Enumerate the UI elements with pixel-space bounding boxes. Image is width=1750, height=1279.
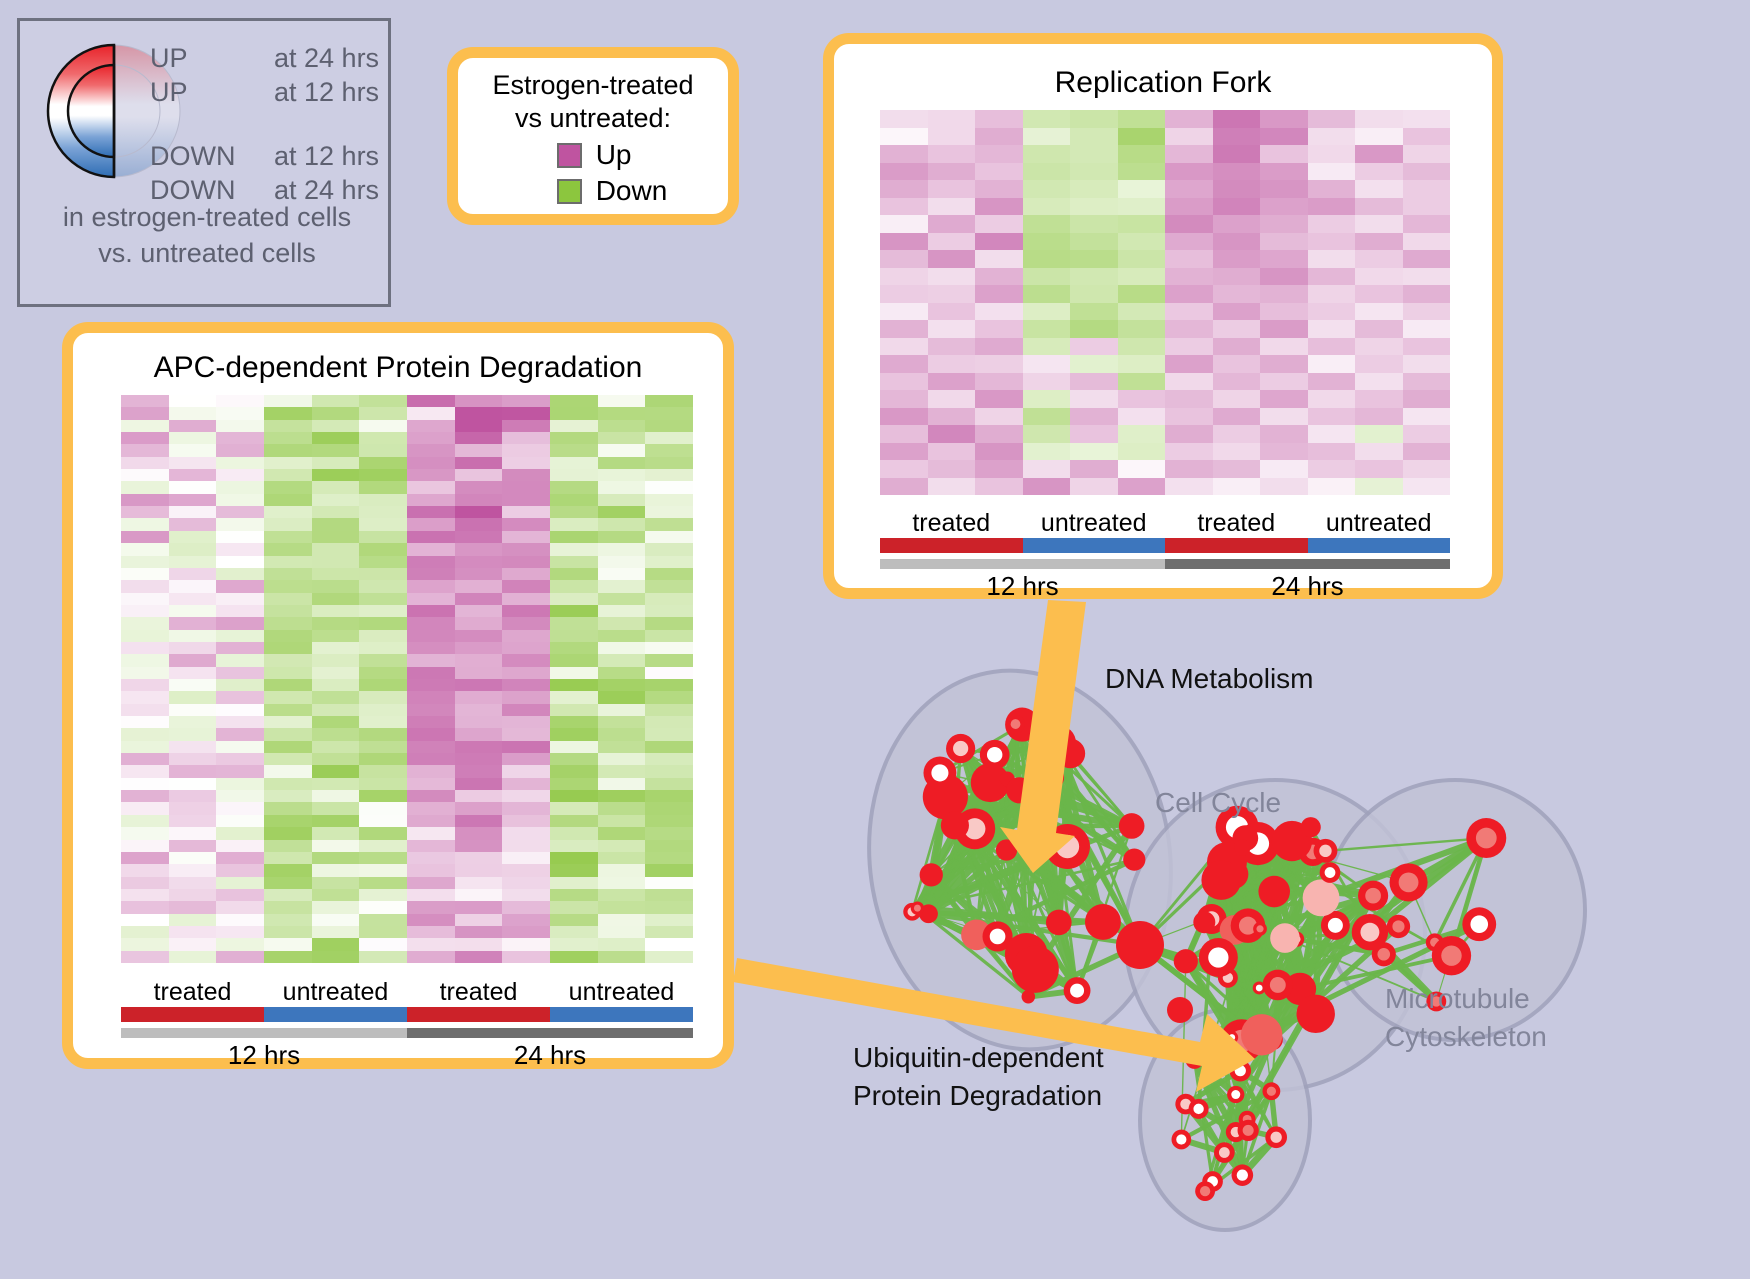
heatmap-cell — [312, 568, 360, 580]
heatmap-cell — [598, 667, 646, 679]
heatmap-cell — [550, 420, 598, 432]
heatmap-cell — [1118, 338, 1166, 356]
panel-title-replication-fork: Replication Fork — [834, 66, 1492, 100]
heatmap-cell — [312, 741, 360, 753]
heatmap-cell — [880, 443, 928, 461]
heatmap-cell — [264, 864, 312, 876]
heatmap-cell — [1213, 460, 1261, 478]
heatmap-cell — [1118, 285, 1166, 303]
heatmap-cell — [216, 691, 264, 703]
heatmap-cell — [502, 877, 550, 889]
heatmap-cell — [502, 827, 550, 839]
heatmap-cell — [455, 889, 503, 901]
heatmap-cell — [407, 914, 455, 926]
heatmap-cell — [407, 543, 455, 555]
heatmap-cell — [502, 704, 550, 716]
heatmap-cell — [216, 852, 264, 864]
heatmap-cell — [550, 926, 598, 938]
heatmap-cell — [264, 654, 312, 666]
heatmap-cell — [216, 802, 264, 814]
heatmap-cell — [1165, 180, 1213, 198]
heatmap-cell — [880, 233, 928, 251]
heatmap-cell — [975, 408, 1023, 426]
heatmap-cell — [598, 679, 646, 691]
heatmap-cell — [169, 531, 217, 543]
heatmap-cell — [407, 889, 455, 901]
heatmap-cell — [169, 395, 217, 407]
heatmap-cell — [1260, 338, 1308, 356]
heatmap-cell — [169, 432, 217, 444]
group-label-treated-24-rep: treated — [1165, 509, 1308, 538]
heatmap-cell — [169, 914, 217, 926]
heatmap-cell — [1355, 110, 1403, 128]
heatmap-cell — [312, 951, 360, 963]
heatmap-cell — [264, 494, 312, 506]
heatmap-cell — [502, 901, 550, 913]
heatmap-cell — [121, 605, 169, 617]
heatmap-cell — [645, 852, 693, 864]
heatmap-cell — [359, 469, 407, 481]
heatmap-cell — [1260, 215, 1308, 233]
heatmap-cell — [1403, 163, 1451, 181]
heatmap-cell — [407, 926, 455, 938]
heatmap-cell — [455, 877, 503, 889]
heatmap-cell — [975, 180, 1023, 198]
heatmap-cell — [1260, 128, 1308, 146]
heatmap-cell — [216, 457, 264, 469]
heatmap-cell — [598, 432, 646, 444]
heatmap-cell — [169, 593, 217, 605]
heatmap-cell — [598, 914, 646, 926]
heatmap-cell — [121, 630, 169, 642]
heatmap-cell — [502, 938, 550, 950]
heatmap-cell — [121, 580, 169, 592]
heatmap-cell — [121, 741, 169, 753]
heatmap-cell — [1355, 163, 1403, 181]
heatmap-cell — [1308, 390, 1356, 408]
heatmap-cell — [407, 840, 455, 852]
legend-title: Estrogen-treated vs untreated: — [492, 69, 693, 135]
heatmap-cell — [1213, 408, 1261, 426]
bar-24hrs-rep — [1165, 559, 1450, 569]
heatmap-cell — [264, 951, 312, 963]
heatmap-cell — [359, 716, 407, 728]
heatmap-cell — [645, 568, 693, 580]
bar-treated-12-apc — [121, 1007, 264, 1022]
heatmap-cell — [1260, 233, 1308, 251]
heatmap-cell — [359, 827, 407, 839]
heatmap-cell — [359, 432, 407, 444]
heatmap-cell — [880, 163, 928, 181]
heatmap-cell — [121, 877, 169, 889]
heatmap-cell — [1070, 110, 1118, 128]
heatmap-cell — [645, 642, 693, 654]
heatmap-cell — [1403, 390, 1451, 408]
heatmap-cell — [264, 840, 312, 852]
heatmap-cell — [1118, 478, 1166, 496]
heatmap-cell — [121, 716, 169, 728]
heatmap-cell — [216, 568, 264, 580]
heatmap-cell — [598, 481, 646, 493]
heatmap-cell — [550, 531, 598, 543]
heatmap-cell — [359, 444, 407, 456]
heatmap-cell — [407, 420, 455, 432]
heatmap-cell — [407, 506, 455, 518]
heatmap-cell — [1213, 233, 1261, 251]
heatmap-cell — [928, 408, 976, 426]
group-label-untreated-24-rep: untreated — [1308, 509, 1451, 538]
heatmap-cell — [502, 926, 550, 938]
heatmap-cell — [1070, 233, 1118, 251]
heatmap-cell — [359, 457, 407, 469]
heatmap-cell — [1403, 355, 1451, 373]
heatmap-cell — [550, 593, 598, 605]
heatmap-cell — [169, 580, 217, 592]
heatmap-cell — [1165, 320, 1213, 338]
heatmap-cell — [455, 840, 503, 852]
heatmap-cell — [928, 128, 976, 146]
heatmap-cell — [1118, 163, 1166, 181]
heatmap-cell — [502, 420, 550, 432]
heatmap-cell — [121, 852, 169, 864]
heatmap-cell — [121, 728, 169, 740]
heatmap-cell — [455, 852, 503, 864]
heatmap-cell — [502, 728, 550, 740]
heatmap-cell — [1308, 285, 1356, 303]
legend-title-line2: vs untreated: — [492, 102, 693, 135]
heatmap-cell — [216, 407, 264, 419]
heatmap-cell — [550, 877, 598, 889]
heatmap-cell — [1403, 128, 1451, 146]
heatmap-cell — [550, 518, 598, 530]
heatmap-cell — [121, 679, 169, 691]
heatmap-cell — [928, 268, 976, 286]
heatmap-cell — [502, 741, 550, 753]
heatmap-cell — [550, 580, 598, 592]
heatmap-cell — [1165, 373, 1213, 391]
heatmap-cell — [1308, 460, 1356, 478]
heatmap-cell — [121, 457, 169, 469]
heatmap-cell — [502, 951, 550, 963]
legend-swatch-down — [557, 179, 582, 204]
heatmap-cell — [121, 444, 169, 456]
time-labels-replication: 12 hrs 24 hrs — [880, 571, 1450, 602]
heatmap-cell — [359, 704, 407, 716]
heatmap-cell — [645, 889, 693, 901]
heatmap-cell — [550, 704, 598, 716]
heatmap-cell — [169, 889, 217, 901]
heatmap-cell — [550, 630, 598, 642]
heatmap-cell — [359, 778, 407, 790]
heatmap-cell — [455, 531, 503, 543]
heatmap-cell — [1213, 443, 1261, 461]
heatmap-cell — [550, 802, 598, 814]
heatmap-cell — [1260, 443, 1308, 461]
heatmap-cell — [455, 753, 503, 765]
key-time-up-12: at 12 hrs — [274, 75, 379, 109]
heatmap-cell — [598, 840, 646, 852]
heatmap-cell — [169, 790, 217, 802]
heatmap-cell — [645, 926, 693, 938]
heatmap-cell — [550, 444, 598, 456]
heatmap-cell — [880, 215, 928, 233]
heatmap-cell — [407, 790, 455, 802]
heatmap-cell — [1165, 443, 1213, 461]
heatmap-cell — [312, 790, 360, 802]
heatmap-cell — [264, 889, 312, 901]
heatmap-cell — [598, 605, 646, 617]
bar-untreated-12-apc — [264, 1007, 407, 1022]
heatmap-cell — [1403, 478, 1451, 496]
heatmap-cell — [264, 827, 312, 839]
heatmap-cell — [264, 580, 312, 592]
heatmap-cell — [550, 951, 598, 963]
heatmap-cell — [502, 630, 550, 642]
heatmap-cell — [1260, 460, 1308, 478]
heatmap-cell — [455, 901, 503, 913]
heatmap-cell — [407, 852, 455, 864]
heatmap-cell — [407, 642, 455, 654]
heatmap-cell — [407, 951, 455, 963]
heatmap-cell — [550, 679, 598, 691]
heatmap-cell — [1118, 110, 1166, 128]
heatmap-cell — [407, 593, 455, 605]
heatmap-cell — [216, 642, 264, 654]
heatmap-cell — [1165, 215, 1213, 233]
heatmap-cell — [645, 704, 693, 716]
heatmap-cell — [407, 741, 455, 753]
heatmap-cell — [1118, 425, 1166, 443]
heatmap-cell — [598, 642, 646, 654]
heatmap-cell — [598, 765, 646, 777]
heatmap-cell — [550, 815, 598, 827]
cluster-label-cell-cycle: Cell Cycle — [1155, 787, 1281, 819]
heatmap-cell — [975, 303, 1023, 321]
heatmap-cell — [264, 704, 312, 716]
heatmap-cell — [359, 753, 407, 765]
heatmap-cell — [407, 580, 455, 592]
heatmap-cell — [407, 716, 455, 728]
heatmap-cell — [455, 593, 503, 605]
heatmap-cell — [312, 901, 360, 913]
heatmap-cell — [598, 827, 646, 839]
heatmap-cell — [1165, 163, 1213, 181]
heatmap-cell — [312, 642, 360, 654]
heatmap-cell — [598, 951, 646, 963]
heatmap-cell — [975, 233, 1023, 251]
heatmap-cell — [880, 408, 928, 426]
axis-replication-fork: treated untreated treated untreated 12 h… — [880, 509, 1450, 602]
heatmap-cell — [1355, 443, 1403, 461]
key-label-up-12: UP — [150, 75, 274, 109]
heatmap-cell — [407, 802, 455, 814]
heatmap-cell — [169, 481, 217, 493]
heatmap-cell — [550, 568, 598, 580]
heatmap-cell — [407, 481, 455, 493]
heatmap-cell — [1355, 408, 1403, 426]
heatmap-cell — [1023, 163, 1071, 181]
heatmap-cell — [502, 852, 550, 864]
heatmap-cell — [169, 926, 217, 938]
heatmap-cell — [169, 469, 217, 481]
heatmap-cell — [216, 840, 264, 852]
heatmap-cell — [1260, 320, 1308, 338]
heatmap-cell — [169, 642, 217, 654]
heatmap-cell — [502, 432, 550, 444]
heatmap-cell — [312, 778, 360, 790]
heatmap-cell — [1165, 478, 1213, 496]
heatmap-cell — [502, 481, 550, 493]
heatmap-cell — [1355, 180, 1403, 198]
heatmap-cell — [407, 407, 455, 419]
heatmap-cell — [928, 198, 976, 216]
heatmap-cell — [1213, 250, 1261, 268]
heatmap-cell — [121, 815, 169, 827]
heatmap-cell — [359, 864, 407, 876]
heatmap-cell — [502, 889, 550, 901]
heatmap-cell — [502, 580, 550, 592]
heatmap-cell — [216, 753, 264, 765]
heatmap-cell — [216, 469, 264, 481]
heatmap-cell — [359, 914, 407, 926]
heatmap-cell — [121, 901, 169, 913]
heatmap-cell — [359, 765, 407, 777]
group-label-treated-24-apc: treated — [407, 978, 550, 1007]
heatmap-cell — [645, 494, 693, 506]
heatmap-cell — [121, 543, 169, 555]
heatmap-cell — [1308, 110, 1356, 128]
heatmap-cell — [407, 568, 455, 580]
key-row-up-24: UP at 24 hrs — [150, 41, 379, 75]
heatmap-cell — [264, 531, 312, 543]
heatmap-cell — [1213, 338, 1261, 356]
heatmap-cell — [1023, 408, 1071, 426]
heatmap-cell — [550, 889, 598, 901]
heatmap-cell — [359, 679, 407, 691]
heatmap-cell — [880, 180, 928, 198]
heatmap-cell — [407, 765, 455, 777]
heatmap-cell — [216, 741, 264, 753]
time-bar-replication — [880, 559, 1450, 569]
heatmap-cell — [1260, 408, 1308, 426]
heatmap-cell — [598, 420, 646, 432]
heatmap-cell — [1118, 215, 1166, 233]
heatmap-cell — [407, 444, 455, 456]
updown-legend-panel: Estrogen-treated vs untreated: Up Down — [447, 47, 739, 225]
heatmap-cell — [598, 815, 646, 827]
heatmap-cell — [1023, 180, 1071, 198]
heatmap-cell — [407, 815, 455, 827]
heatmap-cell — [1165, 198, 1213, 216]
heatmap-cell — [1118, 303, 1166, 321]
heatmap-cell — [455, 827, 503, 839]
heatmap-cell — [1023, 338, 1071, 356]
heatmap-cell — [975, 110, 1023, 128]
heatmap-cell — [169, 420, 217, 432]
heatmap-cell — [598, 568, 646, 580]
heatmap-cell — [928, 338, 976, 356]
heatmap-cell — [1308, 478, 1356, 496]
heatmap-cell — [1070, 215, 1118, 233]
heatmap-cell — [928, 478, 976, 496]
heatmap-cell — [169, 691, 217, 703]
heatmap-cell — [216, 926, 264, 938]
heatmap-cell — [169, 667, 217, 679]
legend-item-up: Up — [557, 139, 668, 171]
heatmap-cell — [216, 716, 264, 728]
heatmap-cell — [1213, 198, 1261, 216]
heatmap-cell — [550, 506, 598, 518]
heatmap-cell — [1070, 373, 1118, 391]
heatmap-cell — [455, 691, 503, 703]
heatmap-cell — [1070, 460, 1118, 478]
heatmap-cell — [1308, 180, 1356, 198]
heatmap-cell — [455, 642, 503, 654]
heatmap-cell — [407, 938, 455, 950]
heatmap-cell — [1213, 268, 1261, 286]
heatmap-cell — [1355, 355, 1403, 373]
heatmap-cell — [264, 420, 312, 432]
color-key-footer: in estrogen-treated cells vs. untreated … — [20, 199, 394, 271]
heatmap-cell — [598, 506, 646, 518]
heatmap-cell — [359, 494, 407, 506]
heatmap-cell — [264, 630, 312, 642]
heatmap-cell — [121, 951, 169, 963]
heatmap-cell — [359, 420, 407, 432]
heatmap-cell — [1070, 425, 1118, 443]
heatmap-cell — [359, 593, 407, 605]
heatmap-cell — [1070, 163, 1118, 181]
heatmap-cell — [455, 481, 503, 493]
heatmap-cell — [880, 478, 928, 496]
heatmap-cell — [975, 320, 1023, 338]
heatmap-cell — [312, 420, 360, 432]
heatmap-cell — [645, 654, 693, 666]
heatmap-cell — [1023, 250, 1071, 268]
heatmap-cell — [1070, 338, 1118, 356]
heatmap-cell — [312, 926, 360, 938]
color-key-footer-line2: vs. untreated cells — [20, 235, 394, 271]
heatmap-cell — [312, 432, 360, 444]
heatmap-cell — [121, 778, 169, 790]
heatmap-cell — [502, 494, 550, 506]
heatmap-cell — [1165, 338, 1213, 356]
heatmap-cell — [598, 395, 646, 407]
heatmap-cell — [502, 444, 550, 456]
heatmap-cell — [645, 840, 693, 852]
cluster-label-ubiquitin-line1: Ubiquitin-dependent — [853, 1042, 1104, 1074]
heatmap-cell — [502, 556, 550, 568]
heatmap-cell — [550, 457, 598, 469]
heatmap-cell — [928, 320, 976, 338]
heatmap-cell — [1403, 338, 1451, 356]
heatmap-cell — [550, 556, 598, 568]
heatmap-cell — [359, 543, 407, 555]
heatmap-cell — [1165, 233, 1213, 251]
heatmap-cell — [975, 268, 1023, 286]
heatmap-cell — [407, 630, 455, 642]
heatmap-cell — [359, 481, 407, 493]
heatmap-cell — [1260, 373, 1308, 391]
heatmap-cell — [598, 901, 646, 913]
heatmap-cell — [216, 494, 264, 506]
heatmap-cell — [1308, 128, 1356, 146]
heatmap-cell — [359, 877, 407, 889]
heatmap-cell — [1023, 215, 1071, 233]
heatmap-cell — [312, 716, 360, 728]
heatmap-cell — [1213, 320, 1261, 338]
heatmap-cell — [407, 901, 455, 913]
